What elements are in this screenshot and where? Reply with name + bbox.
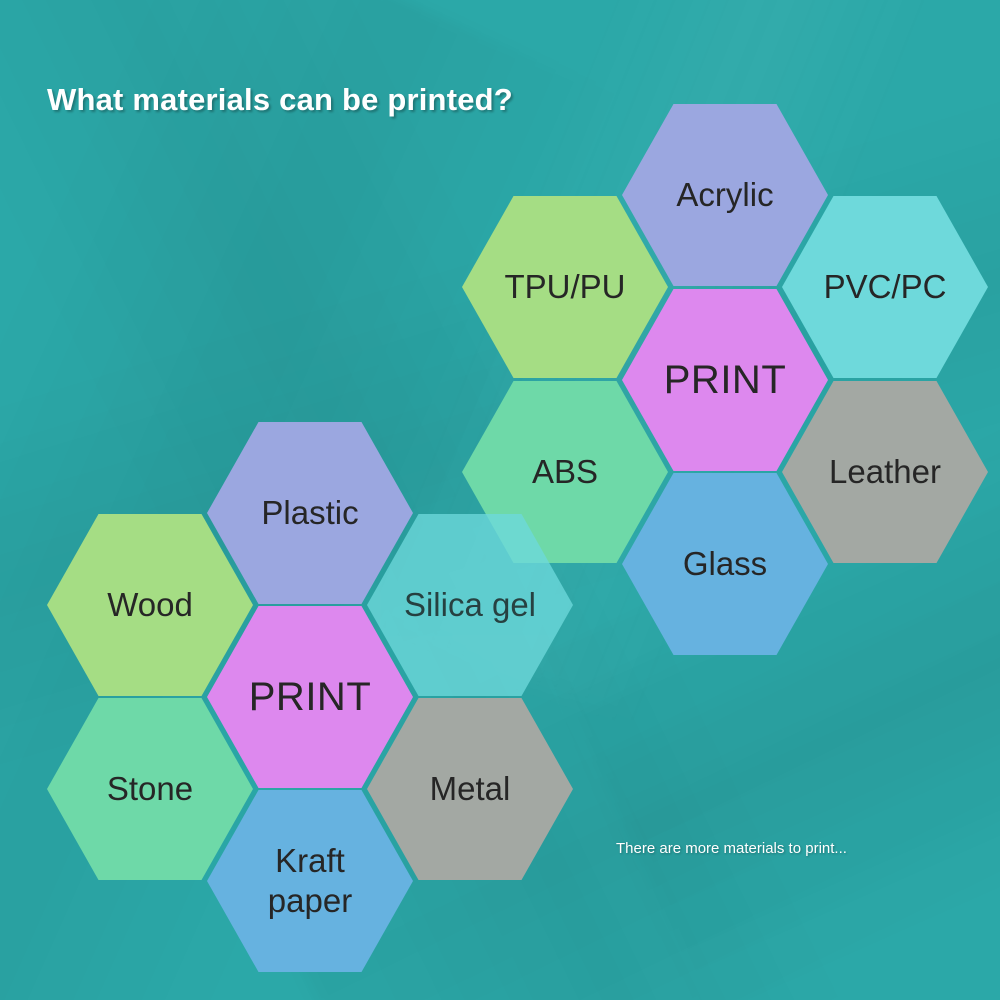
hex-center-print-upper-cluster[interactable]: PRINT	[622, 289, 828, 471]
hex-label: TPU/PU	[480, 267, 650, 307]
hex-stone[interactable]: Stone	[47, 698, 253, 880]
hex-pvc-pc[interactable]: PVC/PC	[782, 196, 988, 378]
hex-label: Stone	[65, 769, 235, 809]
footnote-text: There are more materials to print...	[616, 840, 847, 857]
hex-label: Plastic	[225, 493, 395, 533]
hex-label: Acrylic	[640, 175, 810, 215]
hex-label: Silica gel	[385, 585, 555, 625]
page-title: What materials can be printed?	[47, 82, 513, 118]
hex-label: Wood	[65, 585, 235, 625]
hex-leather[interactable]: Leather	[782, 381, 988, 563]
infographic-canvas: TPU/PUAcrylicPVC/PCABSGlassLeatherPRINTW…	[0, 0, 1000, 1000]
hex-label: Kraftpaper	[225, 841, 395, 922]
hex-label: Leather	[800, 452, 970, 492]
hex-kraft-paper[interactable]: Kraftpaper	[207, 790, 413, 972]
hex-glass[interactable]: Glass	[622, 473, 828, 655]
hex-metal[interactable]: Metal	[367, 698, 573, 880]
hex-label: PRINT	[225, 673, 395, 722]
hex-tpu-pu[interactable]: TPU/PU	[462, 196, 668, 378]
hex-label: Glass	[640, 544, 810, 584]
hex-wood[interactable]: Wood	[47, 514, 253, 696]
hex-label: ABS	[480, 452, 650, 492]
hex-plastic[interactable]: Plastic	[207, 422, 413, 604]
hex-acrylic[interactable]: Acrylic	[622, 104, 828, 286]
hex-center-print-lower-cluster[interactable]: PRINT	[207, 606, 413, 788]
hex-label: Metal	[385, 769, 555, 809]
hex-label: PVC/PC	[800, 267, 970, 307]
hex-label: PRINT	[640, 356, 810, 405]
